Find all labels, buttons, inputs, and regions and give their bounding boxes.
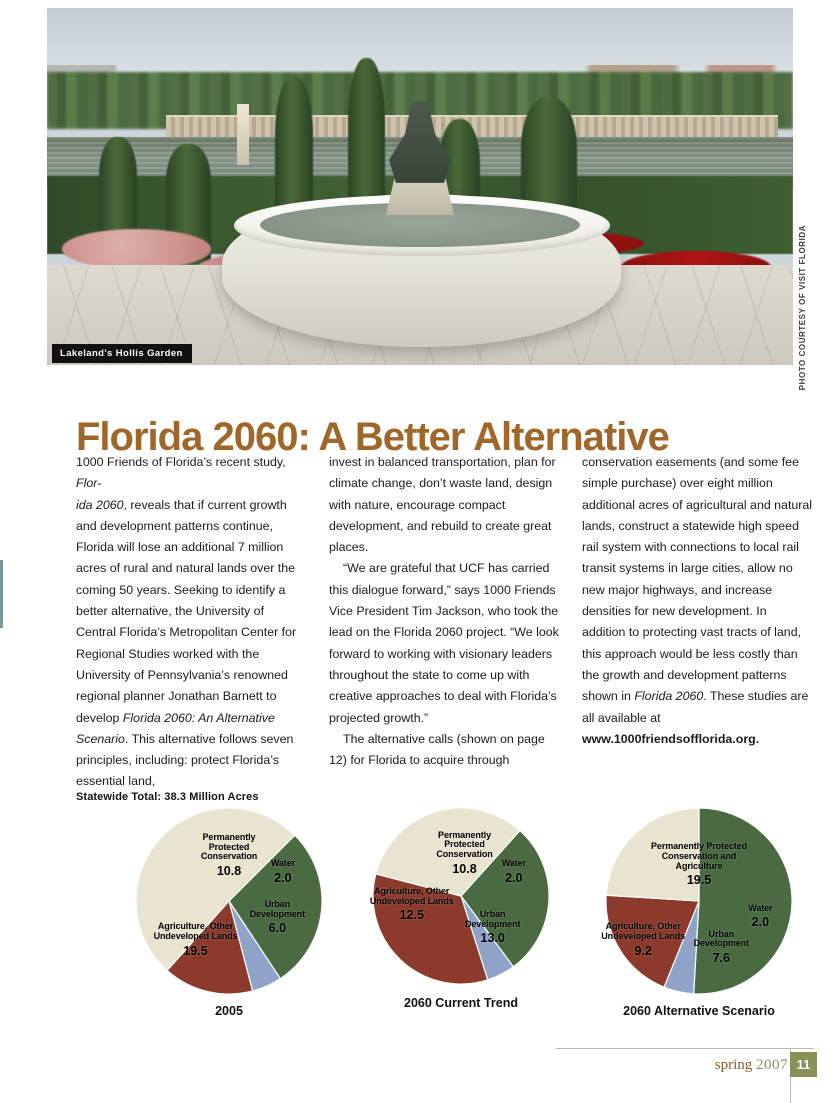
pie-slice-name: Urban Development bbox=[241, 900, 313, 919]
photo-caption: Lakeland's Hollis Garden bbox=[52, 344, 192, 363]
pie-slice-label: Urban Development13.0 bbox=[457, 910, 529, 946]
pie-slice-label: Water2.0 bbox=[260, 859, 306, 885]
charts-heading: Statewide Total: 38.3 Million Acres bbox=[76, 791, 259, 803]
pie-slice-name: Water bbox=[260, 859, 306, 869]
pie-slice-name: Permanently Protected Conservation and A… bbox=[651, 842, 747, 871]
pie-chart-title: 2060 Alternative Scenario bbox=[606, 1004, 792, 1018]
pie-slice-name: Agriculture, Other Undeveloped Lands bbox=[596, 922, 690, 941]
footer-issue: spring 2007 bbox=[556, 1057, 788, 1074]
photo-obelisk bbox=[237, 104, 249, 165]
pie-slice-label: Water2.0 bbox=[492, 859, 536, 885]
article-paragraph: invest in balanced transportation, plan … bbox=[329, 452, 560, 558]
pie-graphic: Permanently Protected Conservation10.8Wa… bbox=[373, 808, 549, 984]
pie-slice-label: Agriculture, Other Undeveloped Lands9.2 bbox=[596, 922, 690, 958]
pie-slice-name: Permanently Protected Conservation bbox=[185, 833, 273, 862]
pie-slice-value: 9.2 bbox=[596, 945, 690, 959]
pie-slice-label: Permanently Protected Conservation and A… bbox=[651, 842, 747, 888]
pie-slice-name: Urban Development bbox=[685, 930, 757, 949]
article-paragraph: “We are grateful that UCF has carried th… bbox=[329, 558, 560, 728]
pie-slice-value: 7.6 bbox=[685, 952, 757, 966]
pie-slice-name: Water bbox=[492, 859, 536, 869]
pie-chart: Permanently Protected Conservation and A… bbox=[606, 808, 792, 994]
hero-photo: Lakeland's Hollis Garden bbox=[47, 8, 793, 365]
article-paragraph: The alternative calls (shown on page 12)… bbox=[329, 729, 560, 772]
article-paragraph: ida 2060, reveals that if current growth… bbox=[76, 495, 307, 793]
photo-credit: PHOTO COURTESY OF VISIT FLORIDA bbox=[798, 225, 807, 390]
pie-slice-value: 12.5 bbox=[364, 909, 460, 923]
article-body: 1000 Friends of Florida’s recent study, … bbox=[76, 452, 814, 793]
article-paragraph: 1000 Friends of Florida’s recent study, … bbox=[76, 452, 307, 495]
article-column-3: conservation easements (and some fee sim… bbox=[582, 452, 813, 793]
pie-slice-label: Agriculture, Other Undeveloped Lands12.5 bbox=[364, 887, 460, 923]
pie-slice-value: 19.5 bbox=[651, 874, 747, 888]
pie-slice-label: Water2.0 bbox=[738, 904, 782, 930]
photo-flowerbed bbox=[62, 229, 211, 268]
footer-season: spring bbox=[715, 1057, 753, 1073]
pie-slice-label: Agriculture, Other Undeveloped Lands19.5 bbox=[148, 922, 244, 958]
pie-chart-title: 2005 bbox=[136, 1004, 322, 1018]
pie-slice-value: 2.0 bbox=[738, 916, 782, 930]
pie-graphic: Permanently Protected Conservation10.8Wa… bbox=[136, 808, 322, 994]
page-edge-mark bbox=[0, 560, 3, 628]
article-column-2: invest in balanced transportation, plan … bbox=[329, 452, 560, 793]
pie-slice-value: 2.0 bbox=[492, 872, 536, 886]
pie-slice-name: Agriculture, Other Undeveloped Lands bbox=[148, 922, 244, 941]
pie-chart-title: 2060 Current Trend bbox=[373, 996, 549, 1010]
magazine-page: Lakeland's Hollis Garden PHOTO COURTESY … bbox=[0, 0, 840, 1103]
pie-slice-name: Permanently Protected Conservation bbox=[422, 831, 508, 860]
article-paragraph: conservation easements (and some fee sim… bbox=[582, 452, 813, 750]
page-number-badge: 11 bbox=[790, 1052, 817, 1077]
pie-chart-group: Permanently Protected Conservation10.8Wa… bbox=[76, 808, 816, 1038]
pie-slice-value: 2.0 bbox=[260, 872, 306, 886]
pie-slice-name: Urban Development bbox=[457, 910, 529, 929]
pie-slice-name: Agriculture, Other Undeveloped Lands bbox=[364, 887, 460, 906]
pie-slice-label: Urban Development6.0 bbox=[241, 900, 313, 936]
pie-chart: Permanently Protected Conservation10.8Wa… bbox=[373, 808, 549, 984]
article-column-1: 1000 Friends of Florida’s recent study, … bbox=[76, 452, 307, 793]
footer-year: 2007 bbox=[756, 1057, 788, 1073]
garden-photo-image bbox=[47, 8, 793, 365]
pie-slice-name: Water bbox=[738, 904, 782, 914]
pie-slice-value: 19.5 bbox=[148, 945, 244, 959]
pie-slice bbox=[694, 808, 792, 994]
footer-divider bbox=[556, 1048, 814, 1049]
pie-slice-label: Urban Development7.6 bbox=[685, 930, 757, 966]
pie-chart: Permanently Protected Conservation10.8Wa… bbox=[136, 808, 322, 994]
pie-graphic: Permanently Protected Conservation and A… bbox=[606, 808, 792, 994]
pie-slice-value: 13.0 bbox=[457, 932, 529, 946]
pie-slice-value: 6.0 bbox=[241, 922, 313, 936]
